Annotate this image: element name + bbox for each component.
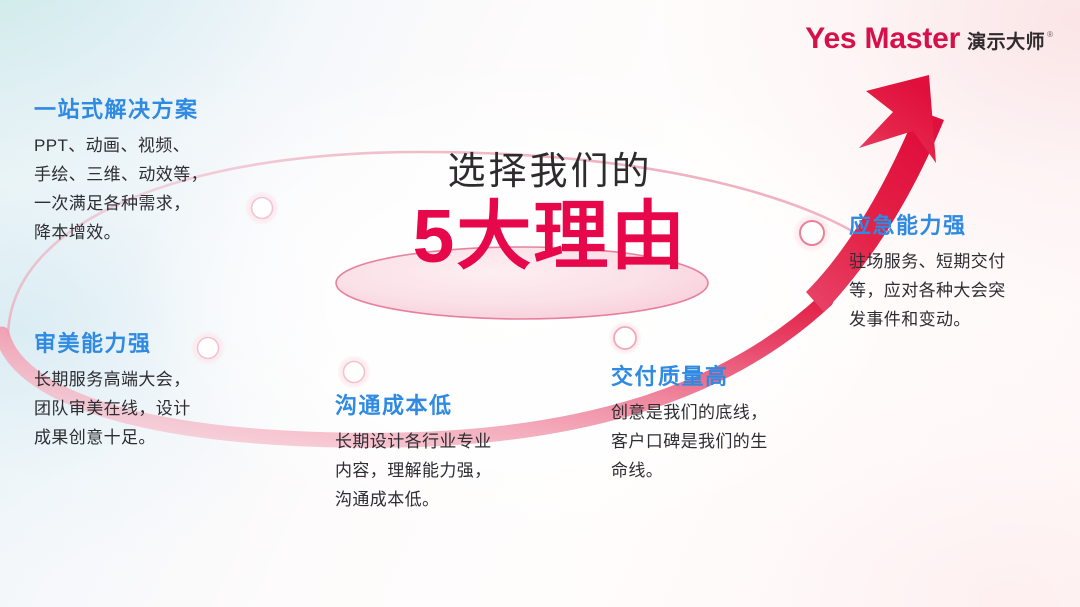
feature-block-emergency-response: 应急能力强 驻场服务、短期交付 等，应对各种大会突 发事件和变动。 (849, 212, 1006, 334)
trademark-icon: ® (1047, 30, 1053, 39)
feature-body-line: PPT、动画、视频、 (34, 131, 208, 160)
feature-block-one-stop-solution: 一站式解决方案 PPT、动画、视频、 手绘、三维、动效等， 一次满足各种需求， … (34, 96, 208, 247)
feature-body: 创意是我们的底线， 客户口碑是我们的生 命线。 (611, 398, 768, 486)
feature-body-line: 创意是我们的底线， (611, 398, 768, 427)
feature-body: 驻场服务、短期交付 等，应对各种大会突 发事件和变动。 (849, 247, 1006, 335)
feature-body-line: 内容，理解能力强， (335, 456, 492, 485)
brand-logo: Yes Master 演示大师 ® (805, 22, 1058, 56)
title-lead-text: 选择我们的 (400, 152, 700, 194)
feature-body-line: 客户口碑是我们的生 (611, 427, 768, 456)
feature-body-line: 成果创意十足。 (34, 423, 191, 452)
feature-body: PPT、动画、视频、 手绘、三维、动效等， 一次满足各种需求， 降本增效。 (34, 131, 208, 248)
feature-block-delivery-quality: 交付质量高 创意是我们的底线， 客户口碑是我们的生 命线。 (611, 363, 768, 485)
feature-body-line: 手绘、三维、动效等， (34, 160, 208, 189)
feature-title: 一站式解决方案 (34, 96, 208, 124)
title-main-text: 5大理由 (400, 196, 700, 277)
logo-chinese-text: 演示大师 (967, 27, 1045, 54)
feature-body-line: 长期服务高端大会， (34, 365, 191, 394)
feature-body-line: 降本增效。 (34, 218, 208, 247)
slide-canvas: Yes Master 演示大师 ® 选择我们的 5大理由 一站式解决方案 PPT… (0, 0, 1080, 607)
feature-title: 交付质量高 (611, 363, 768, 391)
feature-block-aesthetic-ability: 审美能力强 长期服务高端大会， 团队审美在线，设计 成果创意十足。 (34, 330, 191, 452)
feature-block-low-communication-cost: 沟通成本低 长期设计各行业专业 内容，理解能力强， 沟通成本低。 (335, 392, 492, 514)
feature-title: 审美能力强 (34, 330, 191, 358)
feature-body-line: 命线。 (611, 456, 768, 485)
feature-title: 应急能力强 (849, 212, 1006, 240)
feature-title: 沟通成本低 (335, 392, 492, 420)
feature-body: 长期服务高端大会， 团队审美在线，设计 成果创意十足。 (34, 365, 191, 453)
feature-body-line: 等，应对各种大会突 (849, 276, 1006, 305)
feature-body-line: 一次满足各种需求， (34, 189, 208, 218)
feature-body: 长期设计各行业专业 内容，理解能力强， 沟通成本低。 (335, 427, 492, 515)
feature-body-line: 团队审美在线，设计 (34, 394, 191, 423)
feature-body-line: 沟通成本低。 (335, 485, 492, 514)
logo-english-text: Yes Master (805, 22, 960, 56)
feature-body-line: 长期设计各行业专业 (335, 427, 492, 456)
page-title: 选择我们的 5大理由 (400, 152, 700, 277)
feature-body-line: 驻场服务、短期交付 (849, 247, 1006, 276)
feature-body-line: 发事件和变动。 (849, 305, 1006, 334)
